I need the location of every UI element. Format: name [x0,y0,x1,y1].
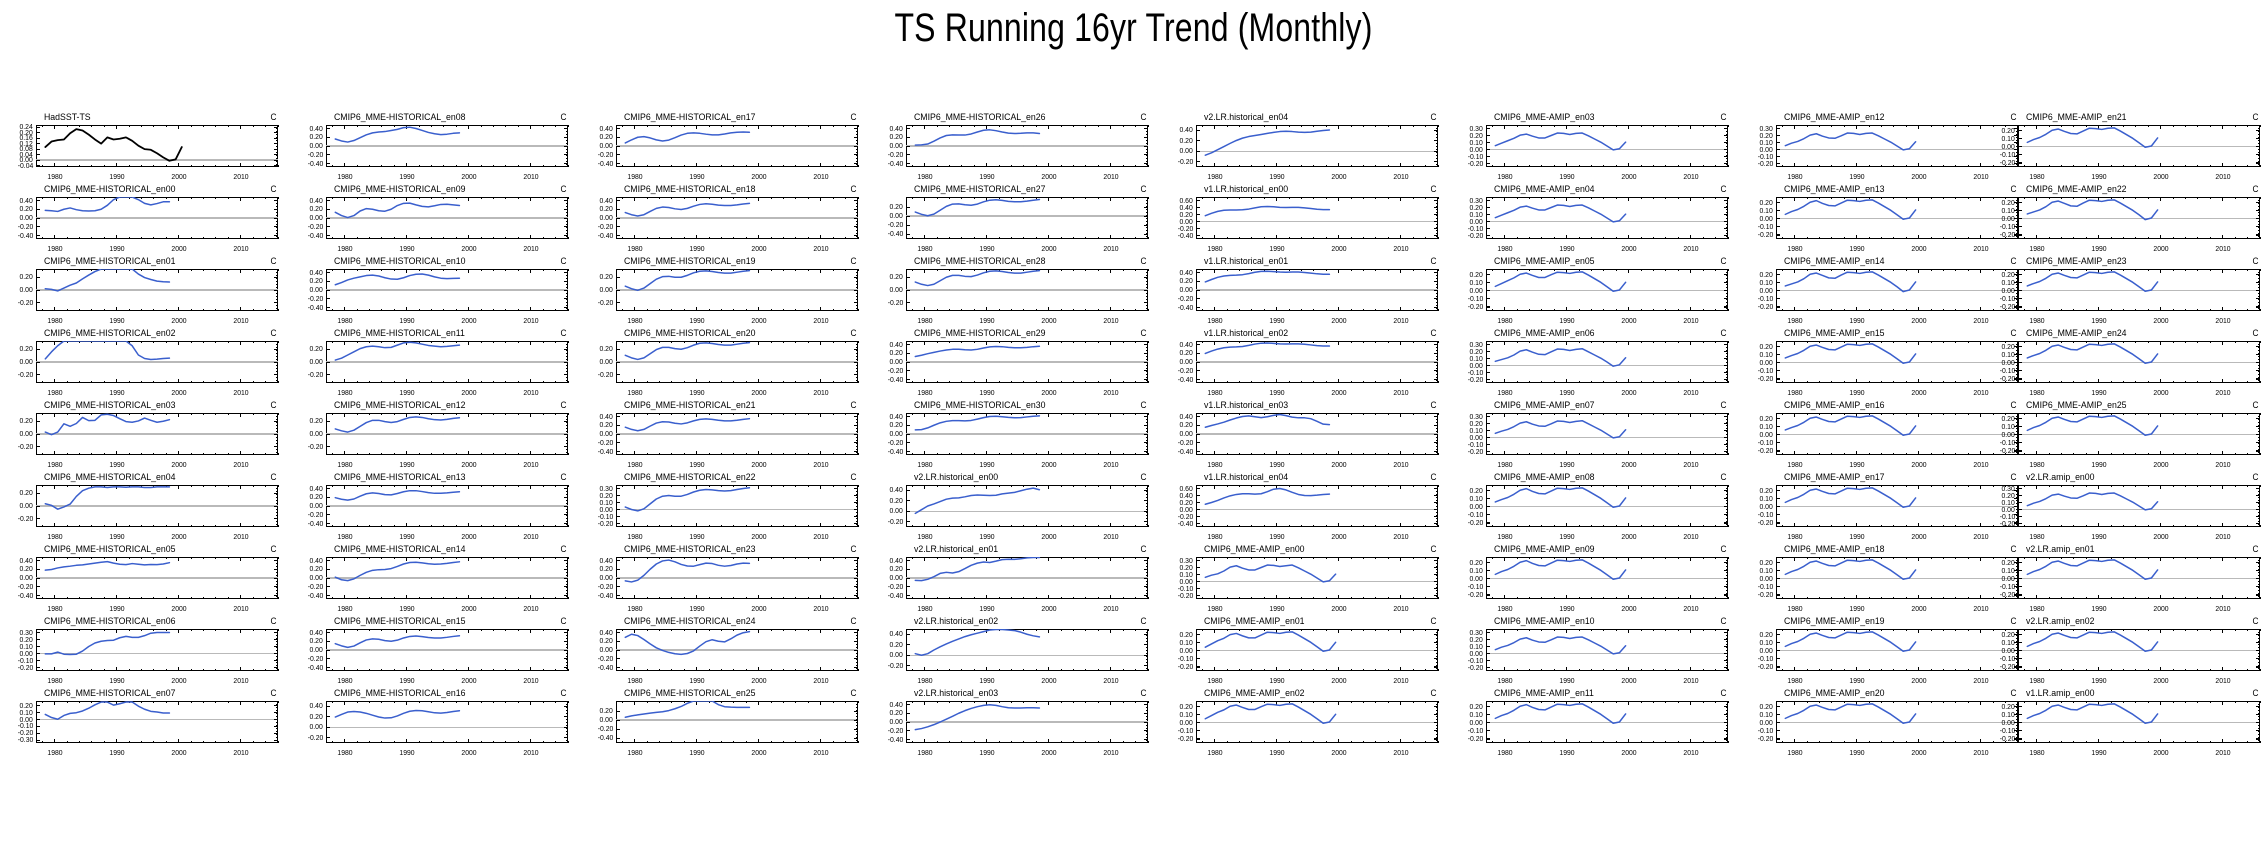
panel[interactable]: CMIP6_MME-HISTORICAL_en30C0.400.200.00-0… [878,401,1155,469]
panel[interactable]: CMIP6_MME-AMIP_en11C0.200.100.00-0.10-0.… [1458,689,1735,757]
panel[interactable]: CMIP6_MME-AMIP_en08C0.200.100.00-0.10-0.… [1458,473,1735,541]
series-line [298,689,575,757]
panel[interactable]: CMIP6_MME-HISTORICAL_en24C0.400.200.00-0… [588,617,865,685]
series-line [1748,473,2025,541]
series-line [8,185,285,253]
panel[interactable]: v1.LR.historical_en01C0.400.200.00-0.20-… [1168,257,1445,325]
panel[interactable]: CMIP6_MME-HISTORICAL_en26C0.400.200.00-0… [878,113,1155,181]
series-line [298,113,575,181]
panel[interactable]: CMIP6_MME-HISTORICAL_en22C0.300.200.100.… [588,473,865,541]
panel[interactable]: CMIP6_MME-AMIP_en02C0.200.100.00-0.10-0.… [1168,689,1445,757]
panel[interactable]: CMIP6_MME-AMIP_en12C0.300.200.100.00-0.1… [1748,113,2025,181]
series-line [878,617,1155,685]
panel[interactable]: CMIP6_MME-AMIP_en10C0.300.200.100.00-0.1… [1458,617,1735,685]
series-line [1458,545,1735,613]
panel[interactable]: CMIP6_MME-HISTORICAL_en16C0.400.200.00-0… [298,689,575,757]
panel[interactable]: CMIP6_MME-HISTORICAL_en03C0.200.00-0.201… [8,401,285,469]
panel[interactable]: CMIP6_MME-HISTORICAL_en23C0.400.200.00-0… [588,545,865,613]
panel[interactable]: CMIP6_MME-HISTORICAL_en07C0.200.100.00-0… [8,689,285,757]
series-line [1458,617,1735,685]
panel[interactable]: CMIP6_MME-HISTORICAL_en14C0.400.200.00-0… [298,545,575,613]
panel[interactable]: CMIP6_MME-AMIP_en13C0.200.100.00-0.10-0.… [1748,185,2025,253]
series-line [1168,473,1445,541]
panel[interactable]: CMIP6_MME-HISTORICAL_en21C0.400.200.00-0… [588,401,865,469]
series-line [878,257,1155,325]
series-line [878,473,1155,541]
series-line [298,401,575,469]
panel[interactable]: CMIP6_MME-HISTORICAL_en02C0.200.00-0.201… [8,329,285,397]
series-line [1168,401,1445,469]
series-line [1748,617,2025,685]
panel[interactable]: CMIP6_MME-HISTORICAL_en18C0.400.200.00-0… [588,185,865,253]
panel[interactable]: v1.LR.historical_en04C0.600.400.200.00-0… [1168,473,1445,541]
panel[interactable]: CMIP6_MME-HISTORICAL_en05C0.400.200.00-0… [8,545,285,613]
series-line [1168,257,1445,325]
series-line [298,329,575,397]
panel[interactable]: CMIP6_MME-HISTORICAL_en15C0.400.200.00-0… [298,617,575,685]
series-line [1458,113,1735,181]
series-line [8,545,285,613]
panel[interactable]: CMIP6_MME-AMIP_en14C0.200.100.00-0.10-0.… [1748,257,2025,325]
series-line [8,401,285,469]
panel[interactable]: CMIP6_MME-AMIP_en16C0.200.100.00-0.10-0.… [1748,401,2025,469]
panel[interactable]: CMIP6_MME-HISTORICAL_en20C0.200.00-0.201… [588,329,865,397]
series-line [298,545,575,613]
panel[interactable]: CMIP6_MME-HISTORICAL_en28C0.200.00-0.201… [878,257,1155,325]
panel[interactable]: CMIP6_MME-AMIP_en21C0.200.100.00-0.10-0.… [1990,113,2267,181]
series-line [878,401,1155,469]
panel[interactable]: CMIP6_MME-AMIP_en00C0.300.200.100.00-0.1… [1168,545,1445,613]
panel[interactable]: HadSST-TSC0.240.200.160.120.080.040.00-0… [8,113,285,181]
series-line [1458,689,1735,757]
panel[interactable]: v2.LR.historical_en04C0.400.200.00-0.201… [1168,113,1445,181]
panel[interactable]: v2.LR.historical_en01C0.400.200.00-0.20-… [878,545,1155,613]
panel[interactable]: CMIP6_MME-HISTORICAL_en08C0.400.200.00-0… [298,113,575,181]
series-line [588,473,865,541]
panel[interactable]: CMIP6_MME-AMIP_en06C0.300.200.100.00-0.1… [1458,329,1735,397]
series-line [1168,617,1445,685]
series-line [588,401,865,469]
series-line [1748,545,2025,613]
panel[interactable]: CMIP6_MME-HISTORICAL_en10C0.400.200.00-0… [298,257,575,325]
series-line [8,689,285,757]
series-line [298,617,575,685]
series-line [298,473,575,541]
series-line [588,113,865,181]
series-line [8,257,285,325]
series-line [1168,113,1445,181]
panel[interactable]: CMIP6_MME-HISTORICAL_en29C0.400.200.00-0… [878,329,1155,397]
series-line [878,113,1155,181]
series-line [298,185,575,253]
panel[interactable]: CMIP6_MME-AMIP_en09C0.200.100.00-0.10-0.… [1458,545,1735,613]
series-line [1168,329,1445,397]
series-line [8,617,285,685]
series-line [1748,401,2025,469]
panel[interactable]: CMIP6_MME-HISTORICAL_en13C0.400.200.00-0… [298,473,575,541]
series-line [878,185,1155,253]
series-line [588,329,865,397]
series-line [588,545,865,613]
panel[interactable]: CMIP6_MME-AMIP_en03C0.300.200.100.00-0.1… [1458,113,1735,181]
panel[interactable]: CMIP6_MME-HISTORICAL_en09C0.400.200.00-0… [298,185,575,253]
series-line [1748,329,2025,397]
page-title: TS Running 16yr Trend (Monthly) [227,6,2041,51]
figure-root: TS Running 16yr Trend (Monthly) HadSST-T… [0,0,2267,852]
panel[interactable]: CMIP6_MME-HISTORICAL_en04C0.200.00-0.201… [8,473,285,541]
series-line [1748,257,2025,325]
series-line [1990,113,2267,181]
series-line [8,329,285,397]
panel[interactable]: CMIP6_MME-AMIP_en19C0.200.100.00-0.10-0.… [1748,617,2025,685]
panel[interactable]: CMIP6_MME-AMIP_en22C0.200.100.00-0.10-0.… [1990,185,2267,253]
series-line [588,689,865,757]
series-line [8,473,285,541]
series-line [1458,473,1735,541]
panel[interactable]: CMIP6_MME-HISTORICAL_en06C0.300.200.100.… [8,617,285,685]
series-line [1168,545,1445,613]
panel[interactable]: v2.LR.historical_en02C0.400.200.00-0.201… [878,617,1155,685]
panel[interactable]: v1.LR.historical_en02C0.400.200.00-0.20-… [1168,329,1445,397]
panel[interactable]: CMIP6_MME-HISTORICAL_en11C0.200.00-0.201… [298,329,575,397]
series-line [298,257,575,325]
series-line [1168,185,1445,253]
series-line [1458,257,1735,325]
series-line [1458,329,1735,397]
series-line [1458,185,1735,253]
series-line [878,329,1155,397]
series-line [1168,689,1445,757]
panel[interactable]: CMIP6_MME-AMIP_en18C0.200.100.00-0.10-0.… [1748,545,2025,613]
panel[interactable]: v2.LR.historical_en03C0.400.200.00-0.20-… [878,689,1155,757]
series-line [1748,185,2025,253]
series-line [588,257,865,325]
panel[interactable]: CMIP6_MME-HISTORICAL_en01C0.200.00-0.201… [8,257,285,325]
series-line [1458,401,1735,469]
panel[interactable]: CMIP6_MME-AMIP_en01C0.200.100.00-0.10-0.… [1168,617,1445,685]
panel[interactable]: CMIP6_MME-AMIP_en17C0.200.100.00-0.10-0.… [1748,473,2025,541]
panel[interactable]: CMIP6_MME-HISTORICAL_en00C0.400.200.00-0… [8,185,285,253]
panel[interactable]: v1.LR.historical_en03C0.400.200.00-0.20-… [1168,401,1445,469]
panel[interactable]: CMIP6_MME-HISTORICAL_en27C0.200.00-0.20-… [878,185,1155,253]
series-line [8,113,285,181]
series-line [878,545,1155,613]
series-line [878,689,1155,757]
series-line [1748,113,2025,181]
panel[interactable]: CMIP6_MME-HISTORICAL_en17C0.400.200.00-0… [588,113,865,181]
panel[interactable]: CMIP6_MME-AMIP_en15C0.200.100.00-0.10-0.… [1748,329,2025,397]
panel[interactable]: CMIP6_MME-AMIP_en04C0.300.200.100.00-0.1… [1458,185,1735,253]
panel[interactable]: v1.LR.historical_en00C0.600.400.200.00-0… [1168,185,1445,253]
panel[interactable]: CMIP6_MME-AMIP_en05C0.200.100.00-0.10-0.… [1458,257,1735,325]
series-line [588,185,865,253]
panel[interactable]: v2.LR.historical_en00C0.400.200.00-0.201… [878,473,1155,541]
panel[interactable]: CMIP6_MME-AMIP_en20C0.200.100.00-0.10-0.… [1748,689,2025,757]
panel[interactable]: CMIP6_MME-HISTORICAL_en19C0.200.00-0.201… [588,257,865,325]
series-line [1748,689,2025,757]
panel[interactable]: CMIP6_MME-HISTORICAL_en25C0.200.00-0.20-… [588,689,865,757]
panel[interactable]: CMIP6_MME-HISTORICAL_en12C0.200.00-0.201… [298,401,575,469]
panel[interactable]: CMIP6_MME-AMIP_en07C0.300.200.100.00-0.1… [1458,401,1735,469]
series-line [588,617,865,685]
